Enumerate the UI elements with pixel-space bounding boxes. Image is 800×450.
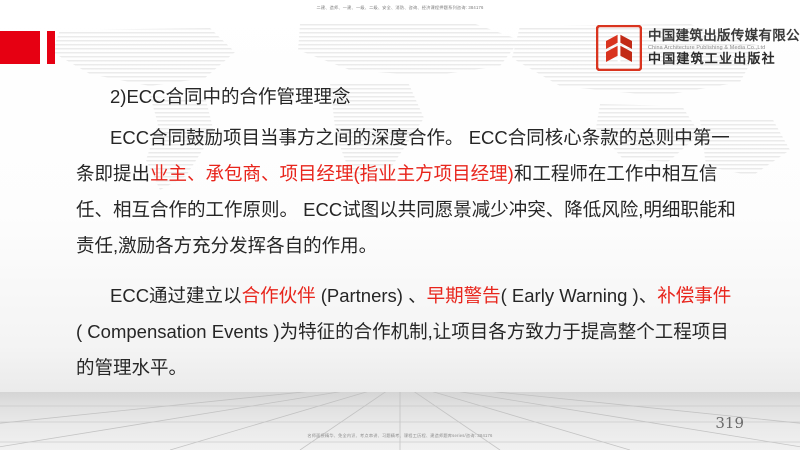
slide-heading: 2)ECC合同中的合作管理理念: [110, 82, 736, 112]
paragraph-two: ECC通过建立以合作伙伴 (Partners) 、早期警告( Early War…: [76, 278, 736, 386]
paragraph-two-seg-0: ECC通过建立以: [110, 285, 242, 306]
publisher-logo-text: 中国建筑出版传媒有限公司 China Architecture Publishi…: [648, 28, 800, 68]
perspective-grid: [0, 392, 800, 450]
paragraph-one: ECC合同鼓励项目当事方之间的深度合作。 ECC合同核心条款的总则中第一条即提出…: [76, 120, 736, 264]
publisher-logo: 中国建筑出版传媒有限公司 China Architecture Publishi…: [596, 24, 794, 72]
header-watermark-text: 二建、造师、一建、一级、二级、安全、消防、咨询、经济课程押题系列咨询: 3841…: [0, 5, 800, 11]
paragraph-two-seg-5-highlight: 补偿事件: [657, 285, 731, 306]
decor-red-bar: [47, 31, 55, 64]
open-book-logo-icon: [596, 25, 642, 71]
paragraph-two-seg-4: ( Early Warning )、: [501, 285, 658, 306]
publisher-company-cn: 中国建筑出版传媒有限公司: [648, 28, 800, 44]
paragraph-one-seg-1-highlight: 业主、承包商、项目经理(指业主方项目经理): [150, 163, 514, 184]
publisher-press-cn: 中国建筑工业出版社: [648, 52, 800, 68]
paragraph-two-seg-1-highlight: 合作伙伴: [242, 285, 316, 306]
decor-red-block: [0, 31, 40, 64]
paragraph-two-seg-3-highlight: 早期警告: [427, 285, 501, 306]
paragraph-two-seg-6: ( Compensation Events )为特征的合作机制,让项目各方致力于…: [76, 321, 729, 378]
slide-body: 2)ECC合同中的合作管理理念 ECC合同鼓励项目当事方之间的深度合作。 ECC…: [76, 82, 736, 386]
page-number: 319: [715, 414, 744, 432]
publisher-company-en: China Architecture Publishing & Media Co…: [648, 44, 800, 52]
presentation-slide: 二建、造师、一建、一级、二级、安全、消防、咨询、经济课程押题系列咨询: 3841…: [0, 0, 800, 450]
slide-background-floor: [0, 392, 800, 450]
footer-watermark-text: 名师面授精华、免全内识、考点串讲、习题精考、课程工历程、建造师题库series/…: [0, 433, 800, 439]
paragraph-two-seg-2: (Partners) 、: [316, 285, 427, 306]
